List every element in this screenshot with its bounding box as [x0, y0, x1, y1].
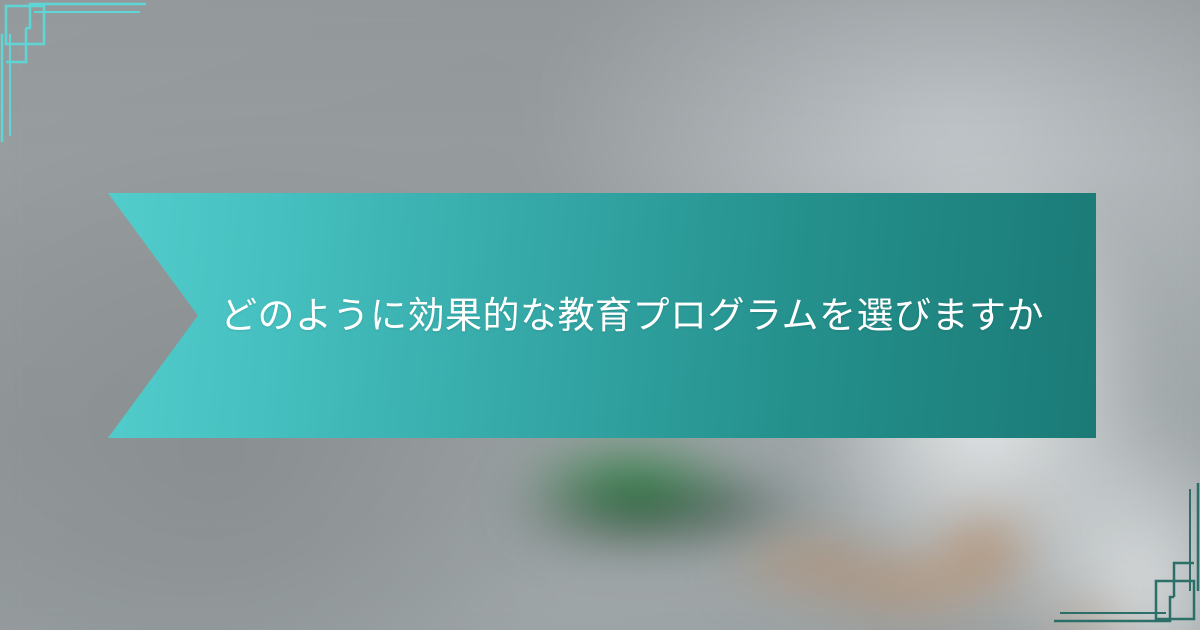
headline-ribbon: どのように効果的な教育プログラムを選びますか: [108, 193, 1096, 438]
headline-text: どのように効果的な教育プログラムを選びますか: [90, 291, 1114, 341]
banner-canvas: どのように効果的な教育プログラムを選びますか: [0, 0, 1200, 630]
